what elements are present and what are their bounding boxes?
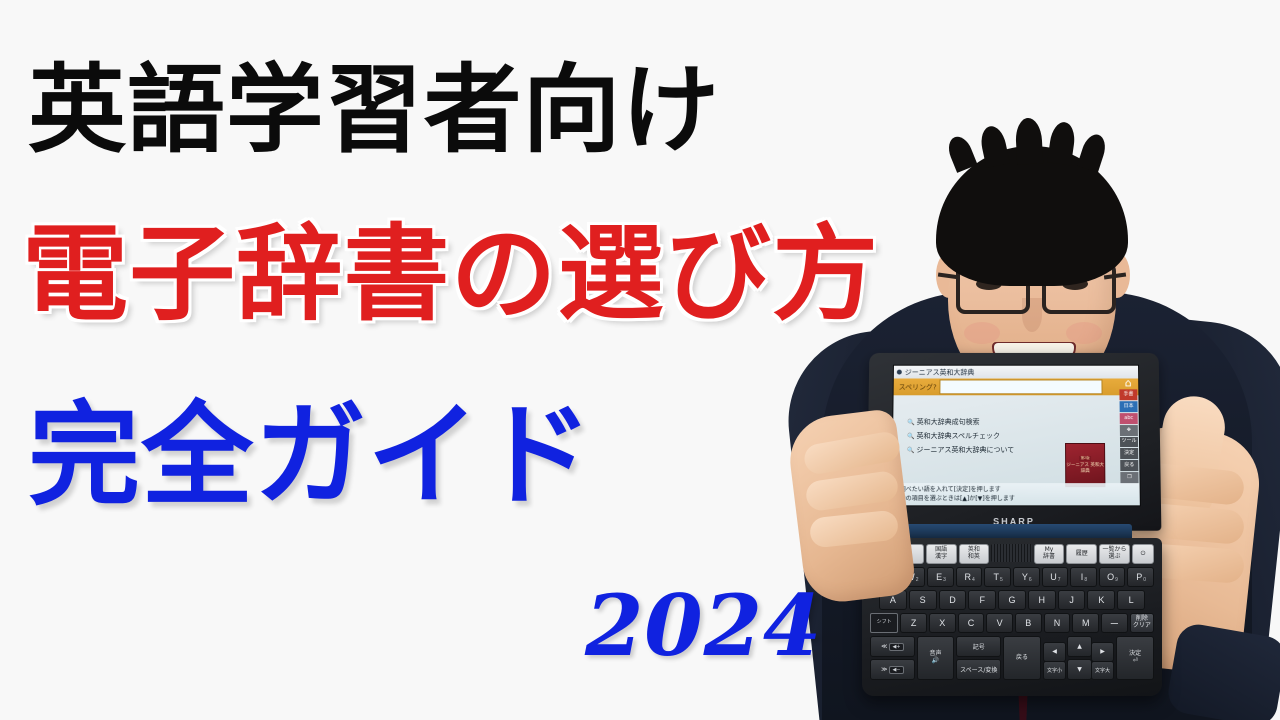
cover-title-label: ジーニアス 英和大辞典 [1066, 463, 1104, 473]
key-j[interactable]: J [1058, 590, 1086, 610]
key-z[interactable]: Z [900, 613, 927, 633]
menu-item-label: 英和大辞典成句検索 [917, 417, 980, 427]
magnifier-icon: 🔍 [907, 433, 915, 440]
key-k[interactable]: K [1087, 590, 1115, 610]
search-input[interactable] [940, 379, 1103, 394]
key-e[interactable]: E3 [927, 567, 954, 587]
cover-ribbon-label: 第2版 [1079, 456, 1092, 461]
key-o[interactable]: O9 [1099, 567, 1126, 587]
handwrite-button[interactable]: 手書 [1119, 389, 1137, 400]
keyboard-row-zxcv: シフト Z X C V B N M ー 削除 クリア [870, 613, 1154, 633]
key-y[interactable]: Y6 [1013, 567, 1040, 587]
screen-menu-list: 🔍 英和大辞典成句検索 🔍 英和大辞典スペルチェック 🔍 ジーニアス英和大辞典に… [907, 417, 1014, 455]
hair-spike-3 [1015, 117, 1043, 164]
key-space-convert[interactable]: スペース/変換 [956, 659, 1001, 680]
key-f[interactable]: F [968, 590, 996, 610]
device-lid: ジーニアス英和大辞典 スペリング? 🔍 英和大辞典成句検索 🔍 英和大辞典スペル… [867, 353, 1162, 531]
key-g[interactable]: G [998, 590, 1026, 610]
key-back[interactable]: 戻る [1003, 636, 1041, 680]
menu-item-spell-check[interactable]: 🔍 英和大辞典スペルチェック [907, 431, 1014, 441]
cheek-left [964, 322, 1000, 344]
abc-button[interactable]: abc [1120, 413, 1138, 424]
title-bullet-icon [897, 370, 902, 375]
key-arrow-right[interactable]: ▶ [1091, 642, 1114, 662]
headline-line-1: 英語学習者向け [28, 62, 720, 158]
screen-search-bar[interactable]: スペリング? [894, 378, 1139, 395]
keyboard-bottom-row: ≪ ◀+ ≫ ◀− 音声 🔊 記号 スペース/変換 戻る ◀ 文字小 [870, 636, 1154, 680]
key-delete-clear[interactable]: 削除 クリア [1130, 613, 1154, 633]
key-my-dictionary[interactable]: My 辞書 [1034, 544, 1065, 564]
magnifier-icon: 🔍 [907, 446, 915, 453]
key-x[interactable]: X [929, 613, 956, 633]
menu-item-label: ジーニアス英和大辞典について [916, 445, 1014, 455]
key-font-small[interactable]: 文字小 [1043, 661, 1066, 680]
thumbnail-canvas: ジーニアス英和大辞典 スペリング? 🔍 英和大辞典成句検索 🔍 英和大辞典スペル… [0, 0, 1280, 720]
headline-line-3: 完全ガイド [28, 400, 594, 512]
screen-side-toolbar: ⌂ 手書 日本 abc ✥ ツール 決定 戻る ❐ [1118, 378, 1139, 484]
key-kokugo-kanji[interactable]: 国語 漢字 [926, 544, 957, 564]
key-enter[interactable]: 決定 ⏎ [1116, 636, 1154, 680]
home-icon[interactable]: ⌂ [1119, 378, 1137, 389]
symbol-space-stack: 記号 スペース/変換 [956, 636, 1001, 680]
year-label: 2024 [585, 584, 822, 668]
key-history[interactable]: 履歴 [1066, 544, 1097, 564]
screen-status-bar: ●調べたい語を入れて[決定]を押します ●他の項目を選ぶときは[▲]か[▼]を押… [892, 483, 1140, 505]
key-h[interactable]: H [1028, 590, 1056, 610]
keyboard-row-asdf: A S D F G H J K L [870, 590, 1154, 610]
key-t[interactable]: T5 [984, 567, 1011, 587]
key-m[interactable]: M [1072, 613, 1099, 633]
status-line-2: ●他の項目を選ぶときは[▲]か[▼]を押します [894, 494, 1138, 503]
hair-spike-5 [1077, 131, 1109, 172]
japanese-button[interactable]: 日本 [1120, 401, 1138, 412]
key-page-up-volume-up[interactable]: ≪ ◀+ [870, 636, 915, 657]
headline-line-2: 電子辞書の選び方 [22, 222, 879, 326]
device-screen[interactable]: ジーニアス英和大辞典 スペリング? 🔍 英和大辞典成句検索 🔍 英和大辞典スペル… [891, 365, 1141, 507]
key-c[interactable]: C [958, 613, 985, 633]
enter-button[interactable]: 決定 [1120, 448, 1138, 459]
dictionary-title: ジーニアス英和大辞典 [905, 367, 975, 377]
key-r[interactable]: R4 [956, 567, 983, 587]
status-line-1: ●調べたい語を入れて[決定]を押します [894, 485, 1137, 494]
suit-cuff-right [1165, 621, 1280, 720]
window-button[interactable]: ❐ [1120, 472, 1138, 483]
key-s[interactable]: S [909, 590, 937, 610]
cheek-right [1066, 322, 1102, 344]
key-choose-from-list[interactable]: 一覧から 選ぶ [1099, 544, 1130, 564]
search-label: スペリング? [896, 382, 940, 392]
key-i[interactable]: I8 [1070, 567, 1097, 587]
key-arrow-up[interactable]: ▲ [1067, 636, 1092, 657]
key-symbol[interactable]: 記号 [956, 636, 1001, 657]
tool-button[interactable]: ツール [1120, 437, 1138, 448]
key-b[interactable]: B [1015, 613, 1042, 633]
key-arrow-down[interactable]: ▼ [1067, 659, 1092, 680]
key-page-down-volume-down[interactable]: ≫ ◀− [870, 659, 915, 680]
key-n[interactable]: N [1044, 613, 1071, 633]
dictionary-cover-thumbnail: 第2版 ジーニアス 英和大辞典 [1065, 443, 1105, 487]
electronic-dictionary-device: ジーニアス英和大辞典 スペリング? 🔍 英和大辞典成句検索 🔍 英和大辞典スペル… [862, 352, 1162, 700]
menu-item-about[interactable]: 🔍 ジーニアス英和大辞典について [907, 445, 1014, 455]
key-power[interactable]: ⏻ [1132, 544, 1154, 564]
key-v[interactable]: V [986, 613, 1013, 633]
dpad-cluster: ◀ 文字小 ▲ ▼ ▶ 文字大 [1043, 636, 1114, 680]
speaker-grille [991, 544, 1031, 562]
key-u[interactable]: U7 [1042, 567, 1069, 587]
key-eiwa-waei[interactable]: 英和 和英 [959, 544, 990, 564]
screen-title-bar: ジーニアス英和大辞典 [894, 366, 1138, 379]
magnifier-icon: 🔍 [907, 419, 915, 426]
key-prolonged-sound[interactable]: ー [1101, 613, 1128, 633]
key-l[interactable]: L [1117, 590, 1145, 610]
key-d[interactable]: D [939, 590, 967, 610]
key-arrow-left[interactable]: ◀ [1043, 642, 1066, 662]
key-font-large[interactable]: 文字大 [1091, 661, 1114, 680]
key-voice[interactable]: 音声 🔊 [917, 636, 955, 680]
menu-item-label: 英和大辞典スペルチェック [916, 431, 1000, 441]
move-button[interactable]: ✥ [1120, 425, 1138, 436]
back-button[interactable]: 戻る [1120, 460, 1138, 471]
menu-item-idiom-search[interactable]: 🔍 英和大辞典成句検索 [907, 417, 1014, 427]
key-p[interactable]: P0 [1127, 567, 1154, 587]
page-volume-stack: ≪ ◀+ ≫ ◀− [870, 636, 915, 680]
key-shift[interactable]: シフト [870, 613, 898, 633]
